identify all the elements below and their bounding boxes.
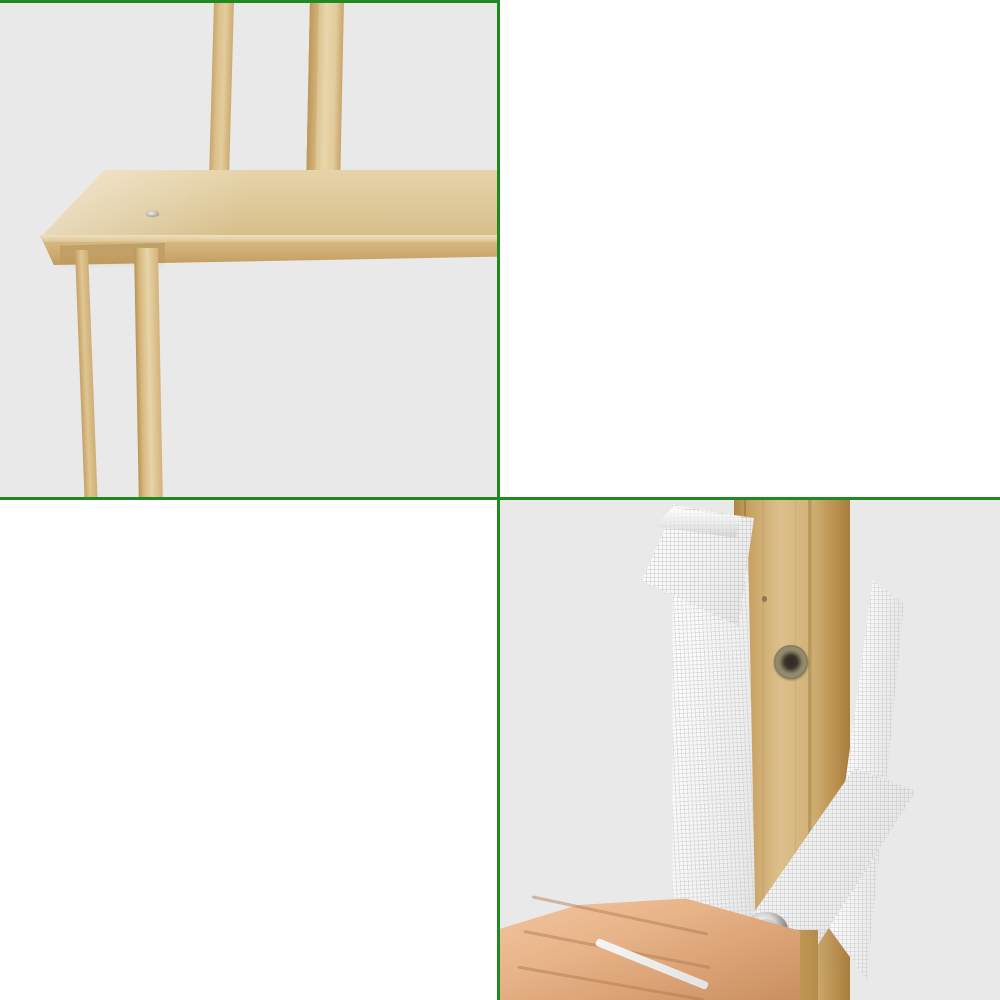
divider-horizontal-left: [0, 497, 500, 500]
anti-tipping-strap-photo: [500, 500, 1000, 1000]
bamboo-knot-mark: [762, 596, 767, 602]
shelf-screw-icon: [146, 211, 159, 217]
photo-panel-anti-tipping-strap: [500, 500, 1000, 1000]
bamboo-leg-front-icon: [134, 248, 163, 497]
bamboo-shelf-photo: [0, 0, 497, 497]
bamboo-shelf-sheen: [40, 170, 497, 238]
photo-panel-bamboo-shelf: [0, 0, 497, 497]
product-feature-infographic: Long-serving Life Crafted from natural b…: [0, 0, 1000, 1000]
divider-horizontal-right: [500, 497, 1000, 500]
divider-vertical-top: [497, 0, 500, 500]
bamboo-leg-rear-icon: [75, 250, 97, 497]
text-panel-long-serving-life: Long-serving Life Crafted from natural b…: [500, 0, 1000, 497]
mounting-hole-icon: [774, 645, 808, 679]
text-panel-tilting-prevention: Tilting Prevention Device Built with ant…: [0, 500, 497, 1000]
bamboo-shelf-edge-highlight: [40, 235, 497, 242]
divider-top-edge: [0, 0, 500, 3]
divider-vertical-bottom: [497, 500, 500, 1000]
